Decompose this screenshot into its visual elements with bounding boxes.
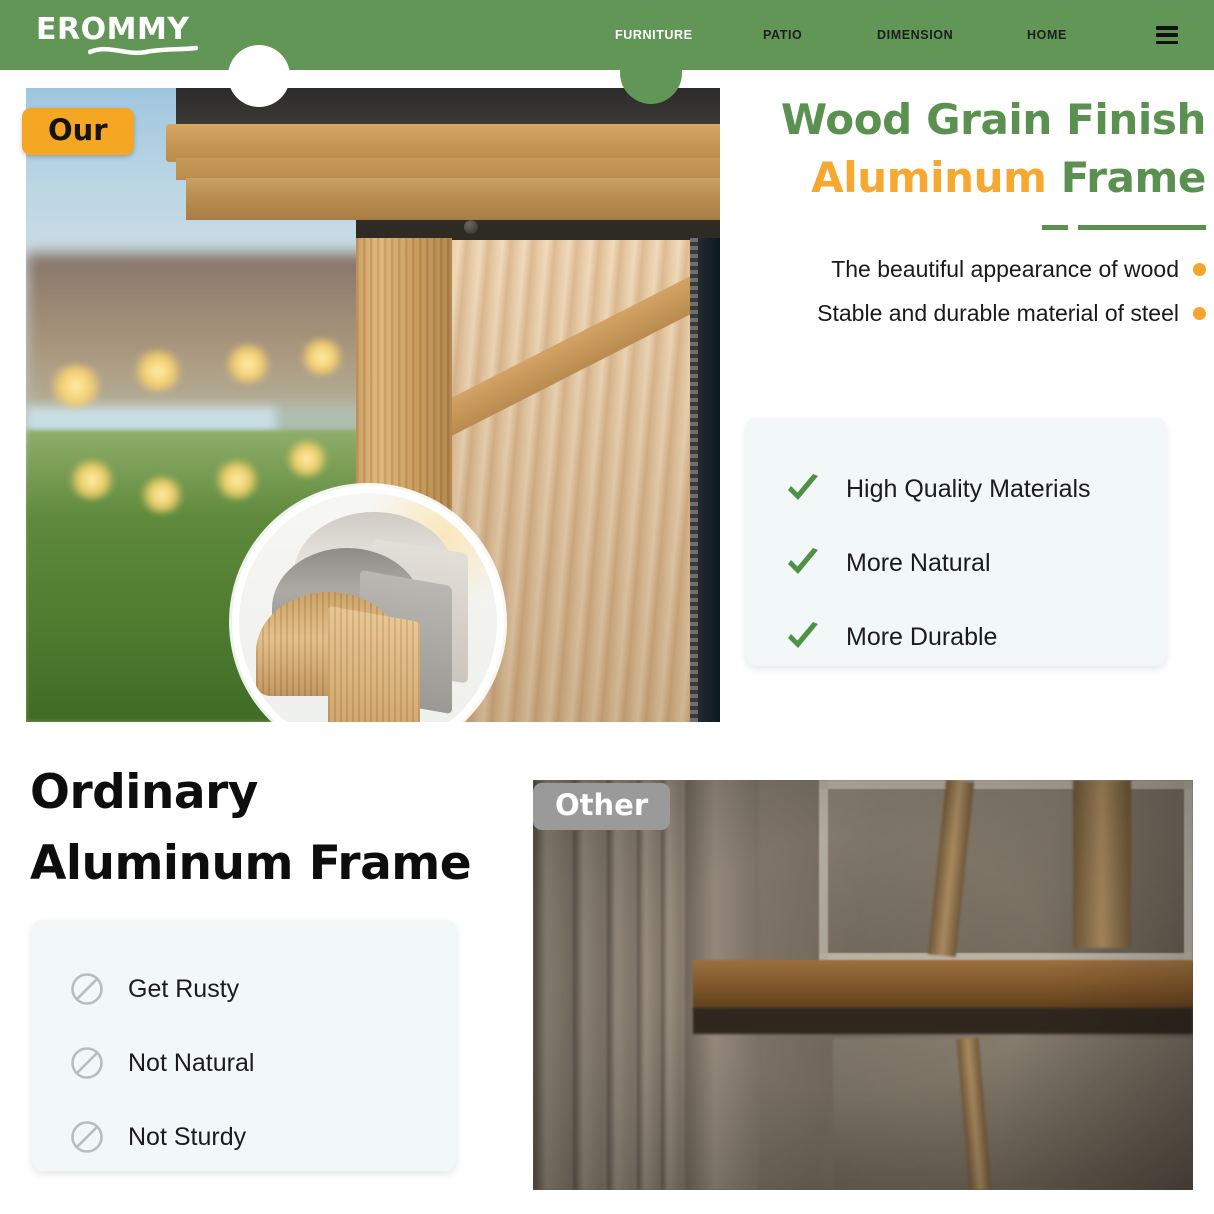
check-icon [786, 474, 820, 504]
photo-string-light [212, 460, 262, 500]
divider-dash [1042, 225, 1068, 230]
prohibited-icon [70, 1120, 104, 1154]
photo-string-light [298, 338, 346, 376]
bullet-label: The beautiful appearance of wood [831, 256, 1179, 283]
bullet-dot-icon [1193, 307, 1206, 320]
brand-logo-text: EROMMY [36, 14, 216, 46]
nav-item-home[interactable]: HOME [1027, 28, 1067, 42]
header-white-notch-decoration [228, 45, 290, 107]
our-badge: Our [22, 108, 134, 155]
nav-item-dimension[interactable]: DIMENSION [877, 28, 953, 42]
feature-label: More Durable [846, 623, 997, 652]
photo-string-light [284, 440, 330, 478]
our-bullet-list: The beautiful appearance of wood Stable … [728, 256, 1206, 327]
other-badge: Other [533, 783, 670, 830]
product-comparison-page: EROMMY FURNITURE PATIO DIMENSION HOME [0, 0, 1214, 1214]
logo-wave-icon [88, 45, 198, 57]
ordinary-drawbacks-card: Get Rusty Not Natural Not Sturdy [32, 920, 456, 1171]
list-item: More Natural [786, 526, 1166, 600]
photo-shadow-gap [356, 220, 720, 240]
our-heading-line-2: Aluminum Frame [728, 154, 1206, 202]
check-icon [786, 548, 820, 578]
check-icon [786, 622, 820, 652]
photo-zipper [690, 238, 698, 722]
ordinary-heading: Ordinary Aluminum Frame [30, 758, 471, 899]
divider-bar [1078, 225, 1206, 230]
main-navigation: FURNITURE PATIO DIMENSION HOME [600, 0, 1120, 70]
photo-pergola-crown-lower [176, 158, 720, 180]
bullet-label: Stable and durable material of steel [817, 300, 1179, 327]
drawback-label: Not Sturdy [128, 1123, 246, 1152]
list-item: Not Sturdy [70, 1100, 456, 1174]
other-photo-vignette [533, 780, 1193, 1190]
brand-logo[interactable]: EROMMY [36, 14, 216, 60]
hamburger-bar [1156, 41, 1178, 45]
drawback-label: Not Natural [128, 1049, 254, 1078]
list-item: High Quality Materials [786, 452, 1166, 526]
list-item: Not Natural [70, 1026, 456, 1100]
photo-string-light [46, 364, 106, 408]
list-item: Stable and durable material of steel [728, 300, 1206, 327]
hamburger-bar [1156, 33, 1178, 37]
feature-label: More Natural [846, 549, 991, 578]
photo-string-light [66, 460, 118, 500]
list-item: More Durable [786, 600, 1166, 674]
our-features-card: High Quality Materials More Natural More… [746, 418, 1166, 666]
other-product-photo [533, 780, 1193, 1190]
prohibited-icon [70, 972, 104, 1006]
list-item: The beautiful appearance of wood [728, 256, 1206, 283]
ordinary-heading-line-2: Aluminum Frame [30, 829, 471, 900]
feature-label: High Quality Materials [846, 475, 1091, 504]
hamburger-bar [1156, 26, 1178, 30]
prohibited-icon [70, 1046, 104, 1080]
our-text-column: Wood Grain Finish Aluminum Frame The bea… [728, 96, 1206, 344]
photo-screw [464, 220, 478, 234]
nav-item-patio[interactable]: PATIO [763, 28, 802, 42]
photo-pergola-beam [186, 178, 720, 220]
drawback-label: Get Rusty [128, 975, 239, 1004]
photo-string-light [222, 344, 274, 384]
site-header: EROMMY FURNITURE PATIO DIMENSION HOME [0, 0, 1214, 70]
photo-pergola-crown-moulding [166, 124, 720, 162]
our-heading-aluminum: Aluminum [811, 153, 1046, 202]
our-heading-frame: Frame [1061, 153, 1206, 202]
hamburger-icon[interactable] [1156, 26, 1178, 44]
our-product-photo [26, 88, 720, 722]
list-item: Get Rusty [70, 952, 456, 1026]
bullet-dot-icon [1193, 263, 1206, 276]
nav-item-furniture[interactable]: FURNITURE [615, 28, 693, 42]
heading-divider [728, 225, 1206, 230]
photo-string-light [138, 476, 186, 514]
photo-string-light [130, 350, 186, 392]
our-heading-line-1: Wood Grain Finish [728, 96, 1206, 144]
ordinary-heading-line-1: Ordinary [30, 758, 471, 829]
